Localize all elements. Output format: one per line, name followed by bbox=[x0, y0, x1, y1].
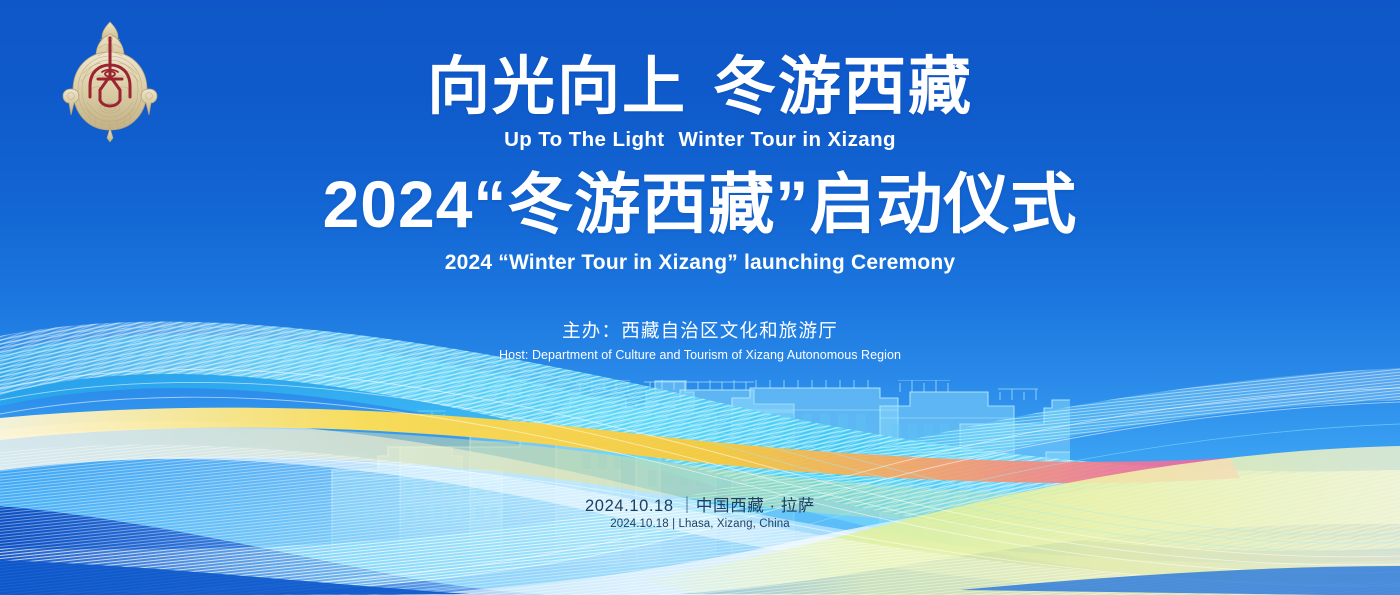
headline-en-part1: Up To The Light bbox=[504, 128, 664, 151]
date-location-en: 2024.10.18 | Lhasa, Xizang, China bbox=[0, 518, 1400, 530]
main-title-cn: 2024“冬游西藏”启动仪式 bbox=[0, 171, 1400, 237]
event-poster: 向光向上冬游西藏 Up To The LightWinter Tour in X… bbox=[0, 0, 1400, 595]
poster-text-block: 向光向上冬游西藏 Up To The LightWinter Tour in X… bbox=[0, 0, 1400, 362]
date-location-cn: 2024.10.18 ｜中国西藏 · 拉萨 bbox=[0, 492, 1400, 516]
headline-cn-part2: 冬游西藏 bbox=[713, 52, 973, 122]
headline-cn: 向光向上冬游西藏 bbox=[0, 56, 1400, 119]
main-title-en: 2024 “Winter Tour in Xizang” launching C… bbox=[0, 251, 1400, 275]
headline-cn-part1: 向光向上 bbox=[427, 52, 687, 122]
headline-en-part2: Winter Tour in Xizang bbox=[679, 128, 896, 151]
date-location-block: 2024.10.18 ｜中国西藏 · 拉萨 2024.10.18 | Lhasa… bbox=[0, 492, 1400, 530]
host-line-cn: 主办：西藏自治区文化和旅游厅 bbox=[0, 317, 1400, 343]
host-line-en: Host: Department of Culture and Tourism … bbox=[0, 348, 1400, 362]
headline-en: Up To The LightWinter Tour in Xizang bbox=[0, 128, 1400, 152]
